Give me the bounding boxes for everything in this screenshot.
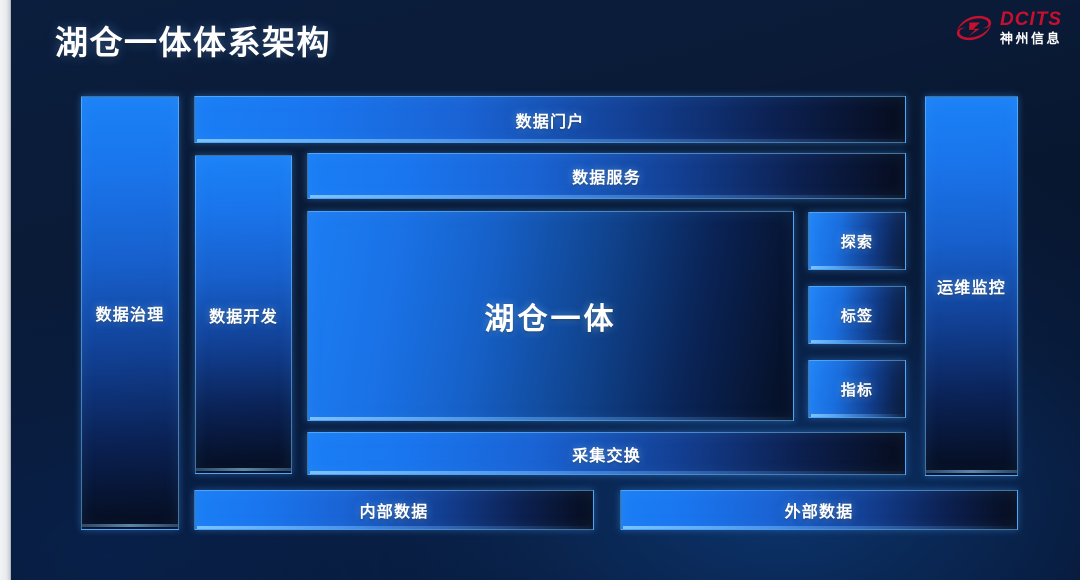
block-label: 数据开发 [209,303,278,327]
block-external-data[interactable]: 外部数据 [620,490,1018,530]
block-label: 数据门户 [516,108,585,132]
page-title: 湖仓一体体系架构 [55,16,331,64]
block-data-development[interactable]: 数据开发 [195,155,292,474]
dcits-swirl-icon [954,11,994,45]
block-data-service[interactable]: 数据服务 [307,153,906,199]
block-data-portal[interactable]: 数据门户 [194,96,906,143]
block-label: 运维监控 [937,274,1006,298]
block-metric[interactable]: 指标 [808,360,906,418]
block-label: 数据治理 [96,301,165,325]
block-explore[interactable]: 探索 [808,212,906,270]
brand-name-cn: 神州信息 [1000,32,1062,45]
slide-canvas: 湖仓一体体系架构 DCITS 神州信息 数据治理 数据开发 运维监控 数据门户 … [0,0,1080,580]
page-edge-strip [0,0,11,580]
block-internal-data[interactable]: 内部数据 [194,490,594,530]
block-label: 内部数据 [360,498,429,522]
block-label: 指标 [841,379,873,400]
block-lakehouse[interactable]: 湖仓一体 [307,211,794,421]
block-ops-monitoring[interactable]: 运维监控 [925,96,1018,476]
block-label: 标签 [841,305,873,326]
block-collection-exchange[interactable]: 采集交换 [307,432,906,475]
block-label: 湖仓一体 [485,294,617,338]
block-tag[interactable]: 标签 [808,286,906,344]
block-data-governance[interactable]: 数据治理 [81,96,179,530]
block-label: 探索 [841,231,873,252]
block-label: 采集交换 [572,442,641,466]
brand-name-en: DCITS [1000,10,1062,29]
block-label: 数据服务 [572,164,641,188]
brand-logo: DCITS 神州信息 [954,10,1062,45]
block-label: 外部数据 [785,498,854,522]
